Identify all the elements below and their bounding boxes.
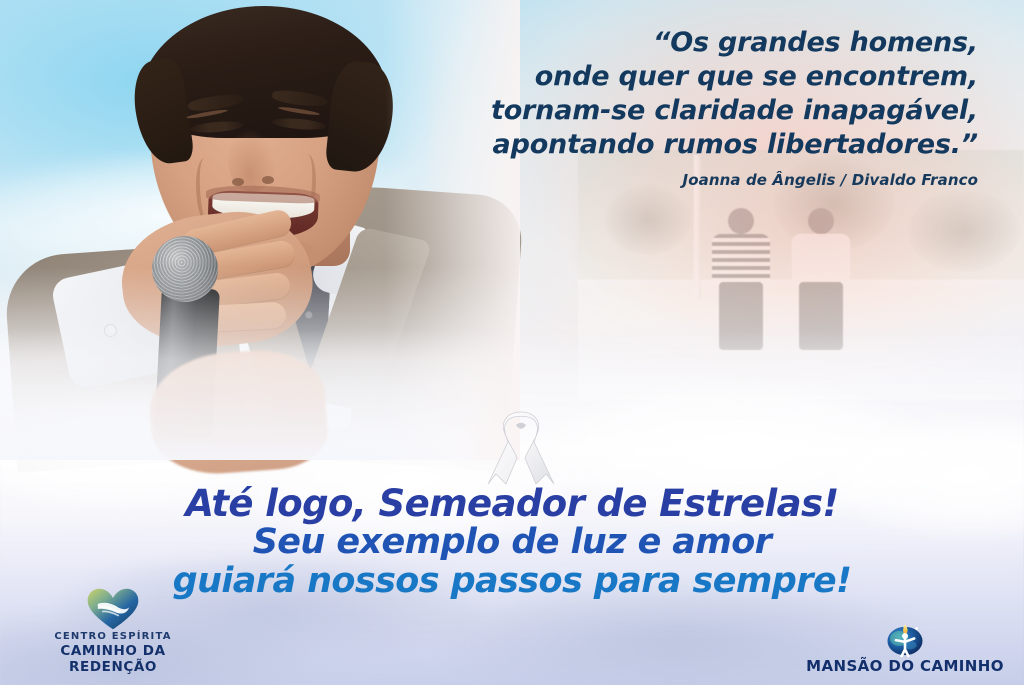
- logo-left-line2: CAMINHO DA REDENÇÃO: [18, 643, 208, 675]
- figure-head: [808, 208, 834, 234]
- headline-block: Até logo, Semeador de Estrelas! Seu exem…: [0, 484, 1024, 601]
- globe-with-figure-and-flame-icon: [800, 615, 1010, 657]
- headline-line-2: Seu exemplo de luz e amor: [0, 523, 1024, 562]
- quote-line-2: onde quer que se encontrem,: [418, 60, 978, 94]
- memorial-poster: “Os grandes homens, onde quer que se enc…: [0, 0, 1024, 685]
- quote-author: Joanna de Ângelis / Divaldo Franco: [418, 171, 978, 189]
- heart-with-hands-icon: [18, 588, 208, 630]
- logo-right-line1: MANSÃO DO CAMINHO: [800, 657, 1010, 675]
- figure-torso: [792, 234, 850, 282]
- microphone-head: [152, 236, 218, 302]
- white-ribbon-icon: [486, 408, 556, 488]
- figure-torso: [712, 234, 770, 282]
- headline-line-1: Até logo, Semeador de Estrelas!: [0, 484, 1024, 523]
- shirt-cuff-button: [104, 324, 117, 337]
- quote-block: “Os grandes homens, onde quer que se enc…: [418, 26, 978, 189]
- quote-line-4: apontando rumos libertadores.”: [418, 128, 978, 162]
- quote-line-1: “Os grandes homens,: [418, 26, 978, 60]
- palm-tree-right: [908, 190, 1020, 272]
- figure-head: [728, 208, 754, 234]
- logo-centro-espirita: CENTRO ESPÍRITA CAMINHO DA REDENÇÃO: [18, 588, 208, 675]
- quote-line-3: tornam-se claridade inapagável,: [418, 94, 978, 128]
- nostril-right: [262, 176, 274, 184]
- palm-tree-left: [605, 185, 691, 255]
- logo-mansao-do-caminho: MANSÃO DO CAMINHO: [800, 615, 1010, 675]
- logo-left-line1: CENTRO ESPÍRITA: [18, 630, 208, 643]
